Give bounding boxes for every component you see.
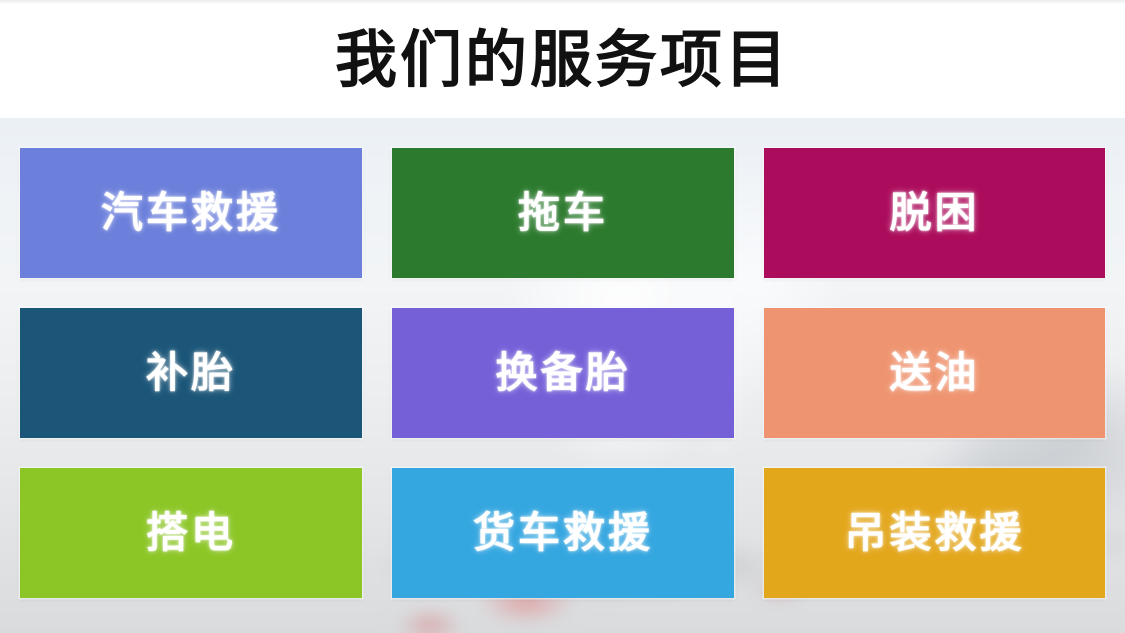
service-tile-car-rescue[interactable]: 汽车救援 [20,148,362,278]
service-tile-extrication[interactable]: 脱困 [764,148,1105,278]
service-tile-label: 补胎 [146,352,236,394]
service-tile-tow-truck[interactable]: 拖车 [392,148,734,278]
service-tile-crane-rescue[interactable]: 吊装救援 [764,468,1105,598]
service-tile-label: 吊装救援 [844,512,1024,554]
service-tile-label: 搭电 [146,512,236,554]
service-tile-truck-rescue[interactable]: 货车救援 [392,468,734,598]
service-tile-grid: 汽车救援 拖车 脱困 补胎 换备胎 送油 搭电 货车救援 吊装救援 [20,148,1105,598]
service-tile-label: 换备胎 [495,352,630,394]
service-tile-spare-tire-change[interactable]: 换备胎 [392,308,734,438]
service-tile-label: 汽车救援 [101,192,281,234]
service-tile-label: 拖车 [518,192,608,234]
service-tile-label: 送油 [889,352,979,394]
service-tile-jump-start[interactable]: 搭电 [20,468,362,598]
service-tile-fuel-delivery[interactable]: 送油 [764,308,1105,438]
page-header: 我们的服务项目 [0,4,1125,118]
service-tile-label: 脱困 [889,192,979,234]
service-tile-tire-repair[interactable]: 补胎 [20,308,362,438]
service-tile-label: 货车救援 [473,512,653,554]
page-title: 我们的服务项目 [335,30,790,92]
